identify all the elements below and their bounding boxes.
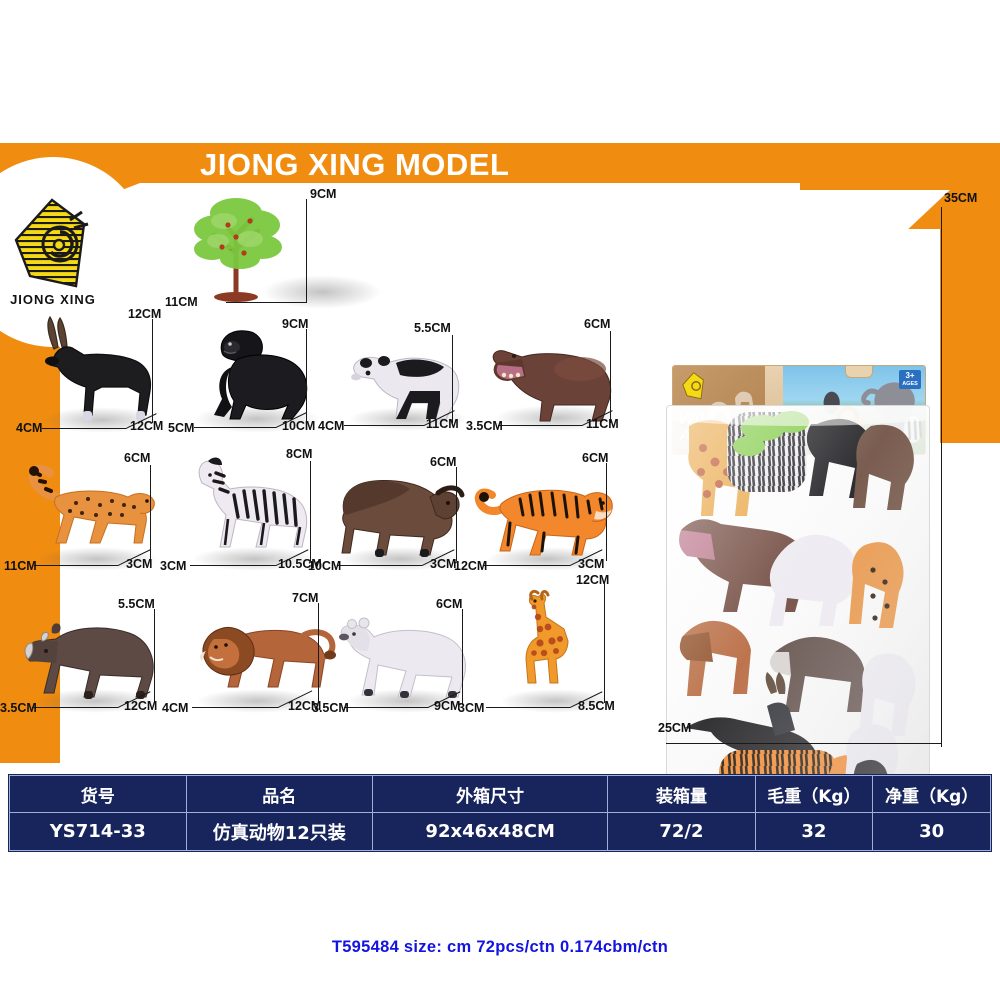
dim-polar-bear-width: 9CM: [434, 699, 460, 713]
dim-antelope-width: 12CM: [130, 419, 163, 433]
dim-hippo-depth: 3.5CM: [466, 419, 503, 433]
dim-giraffe-width: 8.5CM: [578, 699, 615, 713]
dim-tiger-height: 6CM: [582, 451, 608, 465]
cell-item-no: YS714-33: [10, 813, 187, 851]
tiger-head-icon: [10, 198, 96, 290]
dim-package-width: 25CM: [658, 721, 691, 735]
dim-zebra-depth: 3CM: [160, 559, 186, 573]
dim-rhino-width: 12CM: [124, 699, 157, 713]
package-height-line: [941, 207, 942, 747]
col-header-product: 品名: [186, 776, 372, 813]
dim-hippo-height: 6CM: [584, 317, 610, 331]
table-row: YS714-33 仿真动物12只装 92x46x48CM 72/2 32 30: [10, 813, 991, 851]
dim-cheetah-height: 6CM: [124, 451, 150, 465]
dim-polar-bear-height: 6CM: [436, 597, 462, 611]
col-header-qty: 装箱量: [608, 776, 755, 813]
giraffe-figure-icon: [482, 583, 632, 695]
dim-gorilla-depth: 5CM: [168, 421, 194, 435]
figure-hippo: 6CM 3.5CM 11CM: [480, 315, 640, 445]
hang-hole: [845, 366, 873, 378]
age-badge: 3+ AGES: [899, 370, 921, 389]
spec-table-header-row: 货号 品名 外箱尺寸 装箱量 毛重（Kg） 净重（Kg）: [10, 776, 991, 813]
figure-cheetah: 6CM 11CM 3CM: [12, 455, 177, 583]
dim-tree-height: 9CM: [310, 187, 336, 201]
dim-giraffe-height: 12CM: [576, 573, 609, 587]
figure-tree: 9CM 11CM: [170, 191, 360, 306]
dim-giraffe-depth: 3CM: [458, 701, 484, 715]
dim-bison-width: 3CM: [430, 557, 456, 571]
col-header-carton-size: 外箱尺寸: [372, 776, 607, 813]
figure-rhino: 5.5CM 3.5CM 12CM: [14, 595, 179, 725]
dim-lion-depth: 4CM: [162, 701, 188, 715]
figure-giraffe: 12CM 3CM 8.5CM: [472, 595, 637, 725]
bison-figure-icon: [326, 461, 481, 573]
dim-panda-height: 5.5CM: [414, 321, 451, 335]
dim-tiger-depth: 12CM: [454, 559, 487, 573]
dim-antelope-height: 12CM: [128, 307, 161, 321]
package-width-line: [666, 743, 942, 744]
dim-panda-depth: 4CM: [318, 419, 344, 433]
col-header-net-weight: 净重（Kg）: [873, 776, 991, 813]
dim-cheetah-depth: 11CM: [4, 559, 37, 573]
dim-cheetah-width: 3CM: [126, 557, 152, 571]
dim-gorilla-height: 9CM: [282, 317, 308, 331]
dim-package-height: 35CM: [944, 191, 977, 205]
figure-gorilla: 9CM 5CM 10CM: [178, 315, 338, 445]
dim-rhino-depth: 3.5CM: [0, 701, 37, 715]
cell-net-weight: 30: [873, 813, 991, 851]
page-title: JIONG XING MODEL: [200, 147, 509, 183]
cell-gross-weight: 32: [755, 813, 873, 851]
figure-antelope: 12CM 4CM 12CM: [20, 315, 180, 445]
product-sheet: JIONG XING JIONG XING MODEL: [0, 143, 1000, 763]
polybag: [666, 405, 930, 827]
tiger-figure-icon: [472, 459, 627, 571]
dim-tree-depth: 11CM: [165, 295, 198, 309]
figure-tiger: 6CM 12CM 3CM: [468, 455, 633, 583]
tree-figure-icon: [178, 191, 298, 303]
spec-table: 货号 品名 外箱尺寸 装箱量 毛重（Kg） 净重（Kg） YS714-33 仿真…: [8, 774, 992, 852]
bag-contents-icon: [667, 406, 929, 826]
cell-carton-size: 92x46x48CM: [372, 813, 607, 851]
dim-zebra-height: 8CM: [286, 447, 312, 461]
footer-spec-text: T595484 size: cm 72pcs/ctn 0.174cbm/ctn: [0, 938, 1000, 957]
dim-hippo-width: 11CM: [586, 417, 619, 431]
dim-polar-bear-depth: 3.5CM: [312, 701, 349, 715]
col-header-gross-weight: 毛重（Kg）: [755, 776, 873, 813]
dim-lion-height: 7CM: [292, 591, 318, 605]
dim-antelope-depth: 4CM: [16, 421, 42, 435]
dim-tiger-width: 3CM: [578, 557, 604, 571]
dim-gorilla-width: 10CM: [282, 419, 315, 433]
lion-figure-icon: [180, 599, 340, 711]
dim-bison-depth: 10CM: [308, 559, 341, 573]
dim-rhino-height: 5.5CM: [118, 597, 155, 611]
cheetah-figure-icon: [16, 459, 176, 571]
dim-panda-width: 11CM: [426, 417, 459, 431]
cell-product: 仿真动物12只装: [186, 813, 372, 851]
brand-logo-label: JIONG XING: [10, 292, 96, 307]
cell-qty: 72/2: [608, 813, 755, 851]
col-header-item-no: 货号: [10, 776, 187, 813]
dim-bison-height: 6CM: [430, 455, 456, 469]
